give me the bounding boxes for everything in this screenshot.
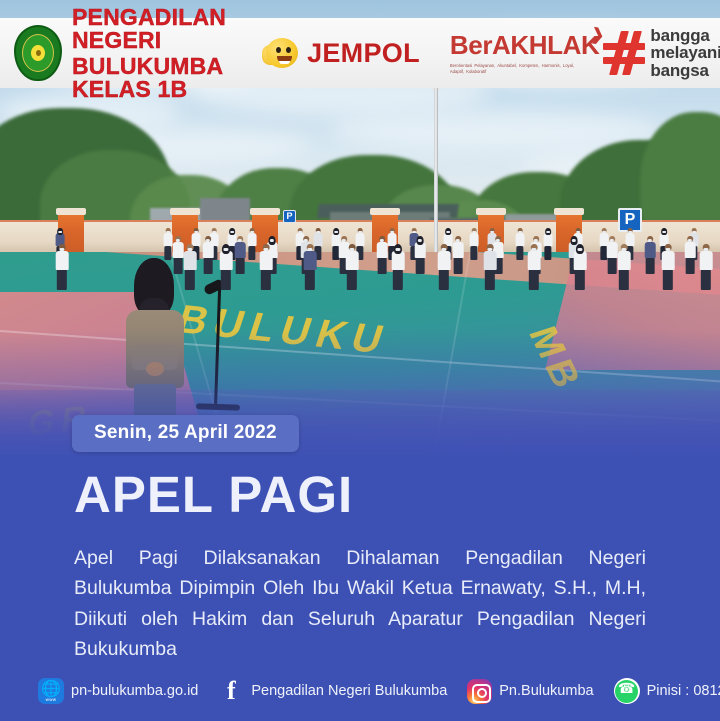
- wall-pillar-cap: [250, 208, 280, 215]
- attendee-legs: [393, 269, 403, 290]
- poster-root: P P BULUKU MB GR: [0, 0, 720, 721]
- face-mask: [490, 231, 494, 233]
- attendee: [163, 228, 172, 260]
- attendee-legs: [454, 257, 463, 274]
- wall-pillar-cap: [170, 208, 200, 215]
- date-badge: Senin, 25 April 2022: [72, 415, 299, 452]
- face-mask: [390, 231, 394, 233]
- attendee-torso: [685, 242, 696, 258]
- face-mask: [577, 248, 582, 251]
- attendee: [606, 236, 617, 274]
- face-mask: [263, 248, 268, 251]
- attendee-torso: [260, 251, 273, 270]
- thumbs-up-emoji-icon: [262, 35, 302, 71]
- face-mask: [166, 231, 170, 233]
- attendee-torso: [453, 242, 464, 258]
- face-mask: [472, 231, 476, 233]
- attendee: [172, 236, 183, 274]
- attendee-torso: [248, 233, 257, 246]
- attendee-torso: [618, 251, 631, 270]
- hashtag-icon: [602, 31, 646, 75]
- attendee: [573, 244, 586, 290]
- wall-pillar-cap: [370, 208, 400, 215]
- attendee: [259, 244, 272, 290]
- face-mask: [628, 231, 632, 233]
- face-mask: [334, 231, 338, 233]
- facebook-icon: f: [218, 678, 244, 704]
- attendee: [303, 244, 316, 290]
- jempol-label: JEMPOL: [307, 38, 420, 69]
- footer-bar: pn-bulukumba.go.id f Pengadilan Negeri B…: [0, 661, 720, 721]
- face-mask: [518, 231, 522, 233]
- content-panel: Senin, 25 April 2022 APEL PAGI Apel Pagi…: [0, 455, 720, 721]
- attendee: [527, 244, 540, 290]
- face-mask: [307, 248, 312, 251]
- attendee-legs: [185, 269, 195, 290]
- face-mask: [665, 248, 670, 251]
- attendee: [699, 244, 712, 290]
- attendee-legs: [236, 257, 245, 274]
- face-mask: [349, 248, 354, 251]
- attendee-torso: [235, 242, 246, 258]
- attendee: [437, 244, 450, 290]
- attendee-torso: [574, 251, 587, 270]
- face-mask: [223, 248, 228, 251]
- face-mask: [58, 231, 62, 233]
- face-mask: [194, 231, 198, 233]
- face-mask: [662, 231, 666, 233]
- attendee-legs: [608, 257, 617, 274]
- face-mask: [487, 248, 492, 251]
- attendee-torso: [700, 251, 713, 270]
- attendee-legs: [57, 269, 67, 290]
- attendee: [469, 228, 478, 260]
- attendee: [661, 244, 674, 290]
- attendee-legs: [439, 269, 449, 290]
- attendee: [617, 244, 630, 290]
- attendee: [183, 244, 196, 290]
- attendee-torso: [544, 233, 553, 246]
- attendee-legs: [204, 257, 213, 274]
- attendee-torso: [528, 251, 541, 270]
- attendee: [55, 244, 68, 290]
- attendee-torso: [607, 242, 618, 258]
- face-mask: [59, 248, 64, 251]
- attendee-torso: [484, 251, 497, 270]
- attendee-legs: [261, 269, 271, 290]
- wall-pillar-cap: [554, 208, 584, 215]
- instagram-icon: [467, 679, 492, 704]
- court-emblem-icon: [14, 25, 62, 81]
- flagpole: [434, 86, 438, 258]
- attendee: [452, 236, 463, 274]
- court-name-line2: BULUKUMBA KELAS 1B: [72, 55, 226, 101]
- berakhlak-tagline: Berorientasi Pelayanan, Akuntabel, Kompe…: [450, 63, 588, 75]
- whatsapp-icon: [614, 678, 640, 704]
- attendee-torso: [438, 251, 451, 270]
- attendee-legs: [663, 269, 673, 290]
- attendee: [483, 244, 496, 290]
- attendee: [247, 228, 256, 260]
- website-label: pn-bulukumba.go.id: [71, 683, 198, 699]
- attendee-legs: [646, 257, 655, 274]
- attendee-torso: [220, 251, 233, 270]
- attendee-torso: [645, 242, 656, 258]
- attendee: [543, 228, 552, 260]
- slogan-line3: bangsa: [650, 62, 720, 79]
- globe-icon: [38, 678, 64, 704]
- face-mask: [412, 231, 416, 233]
- header-bar: PENGADILAN NEGERI BULUKUMBA KELAS 1B JEM…: [0, 18, 720, 88]
- page-title: APEL PAGI: [74, 469, 353, 520]
- attendee-torso: [470, 233, 479, 246]
- face-mask: [692, 231, 696, 233]
- wall-pillar-cap: [56, 208, 86, 215]
- attendee-legs: [470, 246, 477, 261]
- attendee-torso: [662, 251, 675, 270]
- attendee: [644, 236, 655, 274]
- face-mask: [358, 231, 362, 233]
- attendee-torso: [184, 251, 197, 270]
- attendee-torso: [173, 242, 184, 258]
- face-mask: [446, 231, 450, 233]
- footer-item-whatsapp[interactable]: Pinisi : 081245418989: [614, 678, 720, 704]
- face-mask: [621, 248, 626, 251]
- footer-item-website[interactable]: pn-bulukumba.go.id: [38, 678, 198, 704]
- attendee-legs: [305, 269, 315, 290]
- face-mask: [187, 248, 192, 251]
- attendee-torso: [203, 242, 214, 258]
- face-mask: [531, 248, 536, 251]
- berakhlak-wordmark: BerAKHLAK: [450, 30, 600, 61]
- face-mask: [316, 231, 320, 233]
- attendee-legs: [701, 269, 711, 290]
- attendee: [345, 244, 358, 290]
- attendee: [219, 244, 232, 290]
- instagram-label: Pn.Bulukumba: [499, 683, 593, 699]
- attendee-torso: [377, 242, 388, 258]
- attendee: [684, 236, 695, 274]
- parking-sign-small: P: [283, 210, 296, 223]
- face-mask: [212, 231, 216, 233]
- face-mask: [230, 231, 234, 233]
- berakhlak-logo: BerAKHLAK ❯ Berorientasi Pelayanan, Akun…: [450, 27, 720, 79]
- attendee-legs: [416, 257, 425, 274]
- wall-pillar-cap: [476, 208, 506, 215]
- court-name: PENGADILAN NEGERI BULUKUMBA KELAS 1B: [72, 6, 226, 101]
- face-mask: [546, 231, 550, 233]
- footer-item-facebook[interactable]: f Pengadilan Negeri Bulukumba: [218, 678, 447, 704]
- attendee-legs: [164, 246, 171, 261]
- slogan-line2: melayani: [650, 44, 720, 61]
- face-mask: [602, 231, 606, 233]
- attendee-legs: [485, 269, 495, 290]
- face-mask: [250, 231, 254, 233]
- footer-item-instagram[interactable]: Pn.Bulukumba: [467, 679, 593, 704]
- attendee: [234, 236, 245, 274]
- attendee-legs: [575, 269, 585, 290]
- attendee-torso: [516, 233, 525, 246]
- court-name-line1: PENGADILAN NEGERI: [72, 6, 226, 52]
- face-mask: [298, 231, 302, 233]
- facebook-label: Pengadilan Negeri Bulukumba: [251, 683, 447, 699]
- attendee-legs: [248, 246, 255, 261]
- attendee-torso: [164, 233, 173, 246]
- face-mask: [703, 248, 708, 251]
- face-mask: [576, 231, 580, 233]
- face-mask: [441, 248, 446, 251]
- attendee-legs: [174, 257, 183, 274]
- attendee-torso: [392, 251, 405, 270]
- attendee-legs: [529, 269, 539, 290]
- description-text: Apel Pagi Dilaksanakan Dihalaman Pengadi…: [74, 543, 646, 665]
- attendee-legs: [544, 246, 551, 261]
- attendee-legs: [378, 257, 387, 274]
- face-mask: [395, 248, 400, 251]
- attendee: [391, 244, 404, 290]
- attendee: [202, 236, 213, 274]
- attendee-torso: [56, 251, 69, 270]
- attendee-torso: [346, 251, 359, 270]
- jempol-logo: JEMPOL: [262, 35, 420, 71]
- whatsapp-label: Pinisi : 081245418989: [647, 683, 720, 699]
- bangga-melayani-bangsa-slogan: bangga melayani bangsa: [650, 27, 720, 79]
- attendee-legs: [221, 269, 231, 290]
- attendee: [414, 236, 425, 274]
- attendee-torso: [304, 251, 317, 270]
- attendee: [376, 236, 387, 274]
- attendee-legs: [686, 257, 695, 274]
- attendee: [515, 228, 524, 260]
- slogan-line1: bangga: [650, 27, 720, 44]
- attendee-legs: [516, 246, 523, 261]
- attendee-legs: [619, 269, 629, 290]
- attendee-legs: [347, 269, 357, 290]
